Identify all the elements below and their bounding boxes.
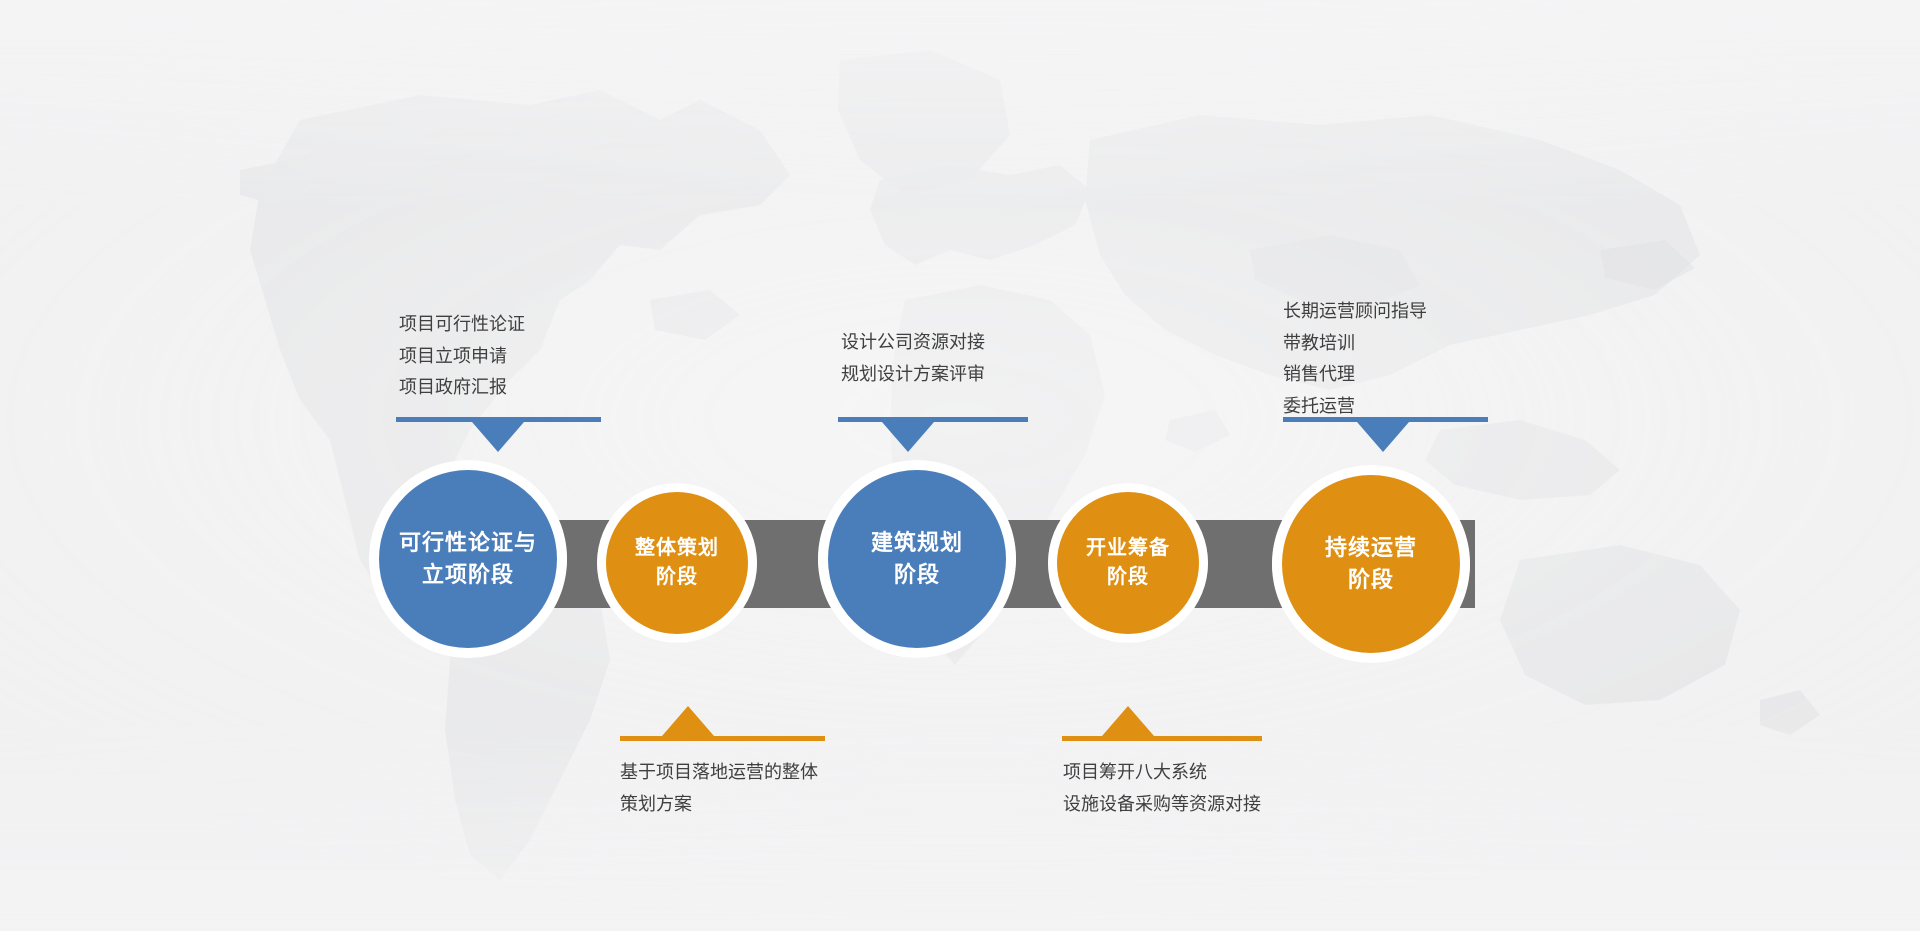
phase-title-line: 阶段	[1348, 564, 1394, 596]
phase-title-line: 立项阶段	[422, 559, 514, 591]
callout-line: 项目政府汇报	[399, 372, 525, 404]
callout-line: 委托运营	[1283, 391, 1427, 423]
callout-line: 设计公司资源对接	[841, 327, 985, 359]
marker-bar	[1062, 736, 1262, 741]
callout-text-2: 基于项目落地运营的整体 策划方案	[620, 757, 818, 820]
callout-line: 基于项目落地运营的整体	[620, 757, 818, 789]
marker-bar	[838, 417, 1028, 422]
marker-triangle-up	[662, 706, 714, 736]
phase-ring-gap-2: 整体策划 阶段	[597, 483, 757, 643]
callout-marker-5	[1283, 417, 1488, 453]
callout-marker-2	[620, 705, 825, 741]
callout-line: 长期运营顾问指导	[1283, 296, 1427, 328]
callout-text-4: 项目筹开八大系统 设施设备采购等资源对接	[1063, 757, 1261, 820]
phase-disc-1[interactable]: 可行性论证与 立项阶段	[379, 470, 557, 648]
marker-triangle-down	[882, 422, 934, 452]
callout-line: 规划设计方案评审	[841, 359, 985, 391]
marker-bar	[620, 736, 825, 741]
phase-node-4[interactable]: 开业筹备 阶段	[1048, 483, 1208, 643]
marker-triangle-down	[472, 422, 524, 452]
callout-line: 带教培训	[1283, 328, 1427, 360]
callout-marker-3	[838, 417, 1028, 453]
callout-text-3: 设计公司资源对接 规划设计方案评审	[841, 327, 985, 390]
callout-line: 设施设备采购等资源对接	[1063, 789, 1261, 821]
phase-ring-gap-3: 建筑规划 阶段	[818, 460, 1016, 658]
phase-node-3[interactable]: 建筑规划 阶段	[818, 460, 1016, 658]
callout-line: 销售代理	[1283, 359, 1427, 391]
world-map-background	[0, 0, 1920, 931]
phase-ring-gap-5: 持续运营 阶段	[1272, 465, 1470, 663]
phase-title-line: 阶段	[656, 563, 698, 592]
phase-node-5[interactable]: 持续运营 阶段	[1272, 465, 1470, 663]
phase-title-line: 整体策划	[635, 534, 719, 563]
callout-line: 策划方案	[620, 789, 818, 821]
phase-disc-5[interactable]: 持续运营 阶段	[1282, 475, 1460, 653]
phase-disc-4[interactable]: 开业筹备 阶段	[1057, 492, 1199, 634]
phase-title-line: 开业筹备	[1086, 534, 1170, 563]
callout-marker-1	[396, 417, 601, 453]
phase-title-line: 阶段	[894, 559, 940, 591]
phase-title-line: 阶段	[1107, 563, 1149, 592]
phase-disc-2[interactable]: 整体策划 阶段	[606, 492, 748, 634]
callout-marker-4	[1062, 705, 1262, 741]
phase-ring-gap-1: 可行性论证与 立项阶段	[369, 460, 567, 658]
diagram-canvas: 可行性论证与 立项阶段 整体策划 阶段 建筑规划 阶段 开业筹备 阶段	[0, 0, 1920, 931]
phase-disc-3[interactable]: 建筑规划 阶段	[828, 470, 1006, 648]
phase-ring-gap-4: 开业筹备 阶段	[1048, 483, 1208, 643]
phase-node-1[interactable]: 可行性论证与 立项阶段	[369, 460, 567, 658]
background-vignette	[0, 0, 1920, 931]
marker-bar	[396, 417, 601, 422]
callout-line: 项目可行性论证	[399, 309, 525, 341]
callout-text-1: 项目可行性论证 项目立项申请 项目政府汇报	[399, 309, 525, 404]
callout-line: 项目立项申请	[399, 341, 525, 373]
callout-line: 项目筹开八大系统	[1063, 757, 1261, 789]
phase-title-line: 建筑规划	[871, 527, 963, 559]
phase-node-2[interactable]: 整体策划 阶段	[597, 483, 757, 643]
marker-triangle-up	[1102, 706, 1154, 736]
callout-text-5: 长期运营顾问指导 带教培训 销售代理 委托运营	[1283, 296, 1427, 422]
phase-title-line: 持续运营	[1325, 532, 1417, 564]
marker-triangle-down	[1357, 422, 1409, 452]
phase-title-line: 可行性论证与	[399, 527, 537, 559]
